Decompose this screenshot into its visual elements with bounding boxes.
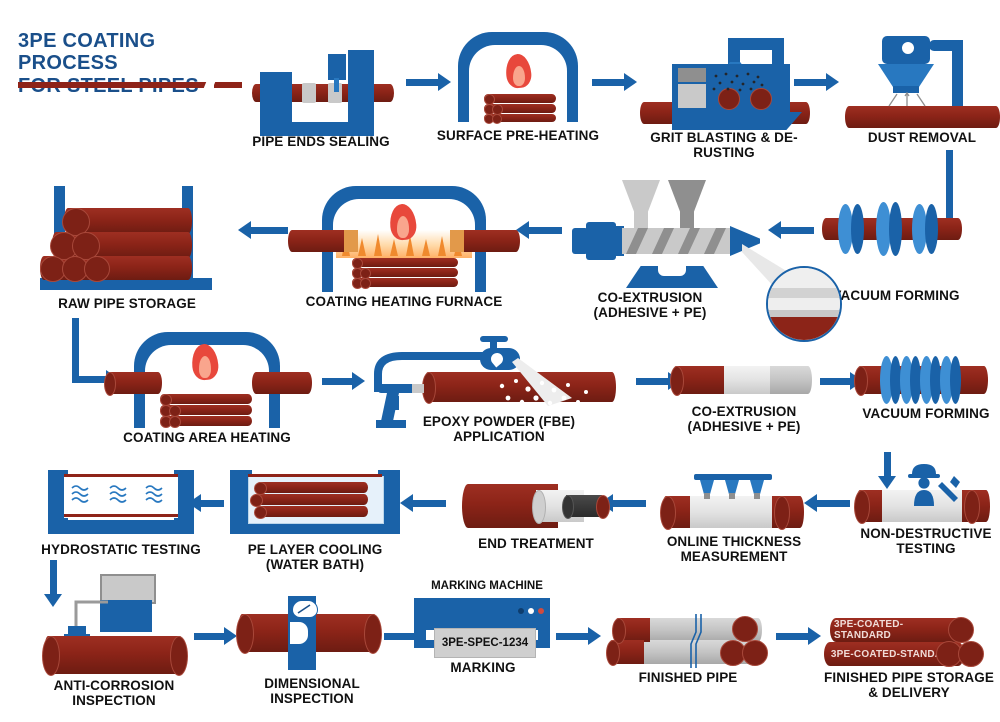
pipe-end-disc — [670, 366, 684, 396]
control-keypad — [678, 84, 706, 108]
clamp-right-column — [348, 50, 374, 136]
coated-pipe-label-1: 3PE-COATED-STANDARD — [834, 618, 960, 642]
suction-arrows-icon — [885, 92, 929, 108]
gauge-gap — [290, 622, 308, 644]
step-label: RAW PIPE STORAGE — [32, 296, 222, 311]
arrow-1-1 — [406, 79, 440, 86]
pipe-end-disc — [854, 366, 868, 396]
step-label: FINISHED PIPE — [600, 670, 776, 685]
step-label: DIMENSIONAL INSPECTION — [226, 676, 398, 706]
clamp-spindle — [334, 78, 339, 92]
pipe-end-disc — [84, 256, 110, 282]
pipe-stack-disc — [958, 641, 984, 667]
stand-notch — [658, 266, 686, 276]
arrow-3-2 — [636, 378, 670, 385]
sensor-tip — [754, 493, 760, 499]
arrow-4-1 — [200, 500, 224, 507]
step-label: CO-EXTRUSION (ADHESIVE + PE) — [660, 404, 828, 434]
pipe-stack-disc — [948, 617, 974, 643]
level-line-top — [64, 474, 178, 477]
pipe-stack-disc — [742, 640, 768, 666]
arrow-5-3 — [556, 633, 590, 640]
duct-neck — [728, 38, 740, 64]
step-marking[interactable]: MARKING MACHINE 3PE-SPEC-1234 MARKING — [408, 582, 558, 674]
hopper-1-neck — [634, 210, 648, 228]
arrow-2-3-head — [768, 221, 781, 239]
powder-particles-icon — [490, 376, 610, 412]
stacked-pipe-1 — [160, 394, 252, 404]
arrow-3-3 — [820, 378, 852, 385]
valve-handle — [480, 336, 508, 342]
connector-r2-r3-horizontal — [72, 376, 108, 383]
sensor-head — [750, 480, 764, 494]
sensor-head — [700, 480, 714, 494]
pipe-grey-section — [770, 366, 812, 394]
step-vacuum-forming-1[interactable]: VACUUM FORMING — [818, 196, 968, 266]
duct-down — [952, 40, 963, 106]
sensor-tip — [729, 493, 735, 499]
collector-hopper — [878, 64, 934, 88]
pipe-exiting-right — [252, 372, 312, 394]
spray-gun-trigger — [394, 396, 399, 410]
title-underline-tail — [214, 82, 242, 88]
step-hydrostatic-testing[interactable]: HYDROSTATIC TESTING — [48, 470, 194, 538]
cooling-pipe-1 — [256, 482, 368, 493]
arrow-2-3 — [780, 227, 814, 234]
step-label: COATING AREA HEATING — [110, 430, 304, 445]
pipe-end-disc — [169, 416, 181, 428]
inspector-worker-icon — [902, 462, 964, 508]
arrow-5-3-head — [588, 627, 601, 645]
grit-particles-icon — [710, 70, 766, 92]
flame-icon — [192, 344, 218, 380]
layer-magnifier-icon — [766, 266, 842, 342]
connector-r2-r3-vertical — [72, 318, 79, 380]
water-waves-icon — [70, 482, 174, 512]
gauge-icon — [901, 41, 915, 55]
pipe-stack-disc — [732, 616, 758, 642]
step-coating-heating-furnace[interactable]: COATING HEATING FURNACE — [322, 186, 486, 292]
arrow-5-4-head — [808, 627, 821, 645]
arrow-5-1 — [194, 633, 226, 640]
tank-base — [48, 520, 194, 534]
status-led-red — [538, 608, 544, 614]
hopper-1 — [622, 180, 660, 212]
level-line-bottom — [64, 514, 178, 517]
pipe-end-disc-right — [774, 496, 790, 530]
pipe-body — [845, 106, 1000, 128]
pipe-end-disc-left — [854, 490, 870, 524]
step-pipe-ends-sealing[interactable]: PIPE ENDS SEALING — [252, 38, 390, 128]
title-line-1: 3PE COATING PROCESS — [18, 30, 258, 75]
pipe-end-disc — [104, 372, 116, 396]
water-line-top — [248, 474, 382, 477]
arrow-1-3 — [794, 79, 828, 86]
pipe-end-disc-left — [660, 496, 676, 530]
arrow-4-3 — [612, 500, 646, 507]
step-surface-pre-heating[interactable]: SURFACE PRE-HEATING — [458, 32, 578, 128]
step-co-extrusion-2[interactable]: CO-EXTRUSION (ADHESIVE + PE) — [672, 358, 818, 408]
step-label: CO-EXTRUSION (ADHESIVE + PE) — [580, 290, 720, 320]
step-label: VACUUM FORMING — [850, 406, 1000, 421]
marking-spec-label: 3PE-SPEC-1234 — [434, 628, 536, 658]
arrow-2-1 — [250, 227, 288, 234]
pipe-end-disc-right — [170, 636, 188, 676]
arrow-4-4 — [816, 500, 850, 507]
step-label: ANTI-CORROSION INSPECTION — [30, 678, 198, 708]
hopper-2-neck — [680, 210, 694, 228]
flame-icon — [506, 54, 531, 88]
arrow-1-2-head — [624, 73, 637, 91]
arrow-3-1 — [322, 378, 354, 385]
step-label: FINISHED PIPE STORAGE & DELIVERY — [814, 670, 1000, 700]
pipe-end-disc — [606, 640, 620, 666]
step-label: NON-DESTRUCTIVE TESTING — [852, 526, 1000, 556]
clamp-head — [328, 54, 346, 80]
control-display — [678, 68, 706, 82]
diagram-canvas: 3PE COATING PROCESS FOR STEEL PIPES PIPE… — [0, 0, 1000, 722]
arrow-4-2-head — [400, 494, 413, 512]
pipe-end-disc-left — [42, 636, 60, 676]
pipe-white-middle — [690, 496, 772, 528]
sensor-tip — [704, 493, 710, 499]
arrow-4-2 — [412, 500, 446, 507]
status-led-dark — [518, 608, 524, 614]
pipe-seal-left — [344, 230, 358, 252]
cooling-pipe-2 — [252, 494, 368, 505]
hose-icon — [372, 348, 492, 392]
screw-flights-icon — [622, 228, 734, 254]
cabinet-base — [672, 112, 802, 130]
step-label: GRIT BLASTING & DE-RUSTING — [622, 130, 826, 160]
seal-collar-left — [302, 83, 316, 103]
arrow-1-1-head — [438, 73, 451, 91]
vacuum-ring — [925, 204, 938, 254]
pipe-end-disc — [360, 278, 371, 289]
flame-icon — [390, 204, 416, 240]
gauge-needle-icon — [292, 600, 316, 616]
step-label: MARKING — [408, 660, 558, 675]
cooling-pipe-3 — [256, 506, 368, 517]
step-label: DUST REMOVAL — [839, 130, 1000, 145]
pipe-end-disc-right — [364, 614, 382, 654]
hopper-2 — [668, 180, 706, 212]
pipe-end-disc-left — [236, 614, 254, 654]
clamp-left-edge — [260, 72, 266, 136]
pipe-body — [44, 636, 184, 674]
step-dust-removal[interactable]: DUST REMOVAL — [845, 26, 995, 130]
pipe-seal-right — [450, 230, 464, 252]
vacuum-ring — [889, 202, 902, 256]
step-finished-pipe-storage-delivery[interactable]: 3PE-COATED-STANDARD 3PE-COATED-STANDARD … — [824, 608, 994, 678]
core-disc-red — [596, 495, 610, 519]
layer-disc-dark — [562, 495, 574, 519]
step-anti-corrosion-inspection[interactable]: ANTI-CORROSION INSPECTION — [44, 574, 194, 674]
step-coating-area-heating[interactable]: COATING AREA HEATING — [134, 332, 280, 428]
step-label: END TREATMENT — [456, 536, 616, 551]
step-online-thickness-measurement[interactable]: ONLINE THICKNESS MEASUREMENT — [662, 466, 812, 536]
title-underline — [18, 82, 210, 88]
arrow-3-1-head — [352, 372, 365, 390]
step-label: SURFACE PRE-HEATING — [436, 128, 600, 143]
step-label: PE LAYER COOLING (WATER BATH) — [212, 542, 418, 572]
step-label: PIPE ENDS SEALING — [240, 134, 402, 149]
step-co-extrusion-1[interactable]: CO-EXTRUSION (ADHESIVE + PE) — [572, 180, 762, 290]
marking-machine-caption: MARKING MACHINE — [418, 580, 556, 592]
vacuum-ring — [851, 204, 864, 254]
coil-ring — [950, 356, 961, 404]
step-vacuum-forming-2[interactable]: VACUUM FORMING — [856, 352, 996, 412]
weld-seam-icon — [688, 614, 710, 668]
step-non-destructive-testing[interactable]: NON-DESTRUCTIVE TESTING — [856, 462, 996, 534]
arrow-2-1-head — [238, 221, 251, 239]
arrow-2-2 — [528, 227, 562, 234]
step-label: ONLINE THICKNESS MEASUREMENT — [648, 534, 820, 564]
pipe-end-disc — [492, 114, 502, 124]
step-end-treatment[interactable]: END TREATMENT — [462, 464, 602, 534]
step-label: COATING HEATING FURNACE — [304, 294, 504, 309]
arrow-1-2 — [592, 79, 626, 86]
status-led-white — [528, 608, 534, 614]
stacked-pipe-1 — [352, 258, 458, 267]
arrow-1-3-head — [826, 73, 839, 91]
step-label: EPOXY POWDER (FBE) APPLICATION — [394, 414, 604, 444]
step-grit-blasting-de-rusting[interactable]: GRIT BLASTING & DE-RUSTING — [640, 26, 810, 130]
step-label: HYDROSTATIC TESTING — [30, 542, 212, 557]
sensor-rail — [694, 474, 772, 480]
sensor-head — [725, 480, 739, 494]
pipe-end-disc-right — [964, 490, 980, 524]
pipe-end-disc — [254, 506, 267, 519]
arrow-5-4 — [776, 633, 810, 640]
step-dimensional-inspection[interactable]: DIMENSIONAL INSPECTION — [238, 596, 388, 674]
pipe-white-section — [724, 366, 772, 394]
step-raw-pipe-storage[interactable]: RAW PIPE STORAGE — [40, 186, 220, 292]
layer-disc-white — [532, 490, 546, 524]
step-epoxy-powder-fbe-application[interactable]: EPOXY POWDER (FBE) APPLICATION — [372, 336, 622, 432]
step-pe-layer-cooling[interactable]: PE LAYER COOLING (WATER BATH) — [230, 470, 400, 538]
step-finished-pipe[interactable]: FINISHED PIPE — [608, 606, 768, 676]
